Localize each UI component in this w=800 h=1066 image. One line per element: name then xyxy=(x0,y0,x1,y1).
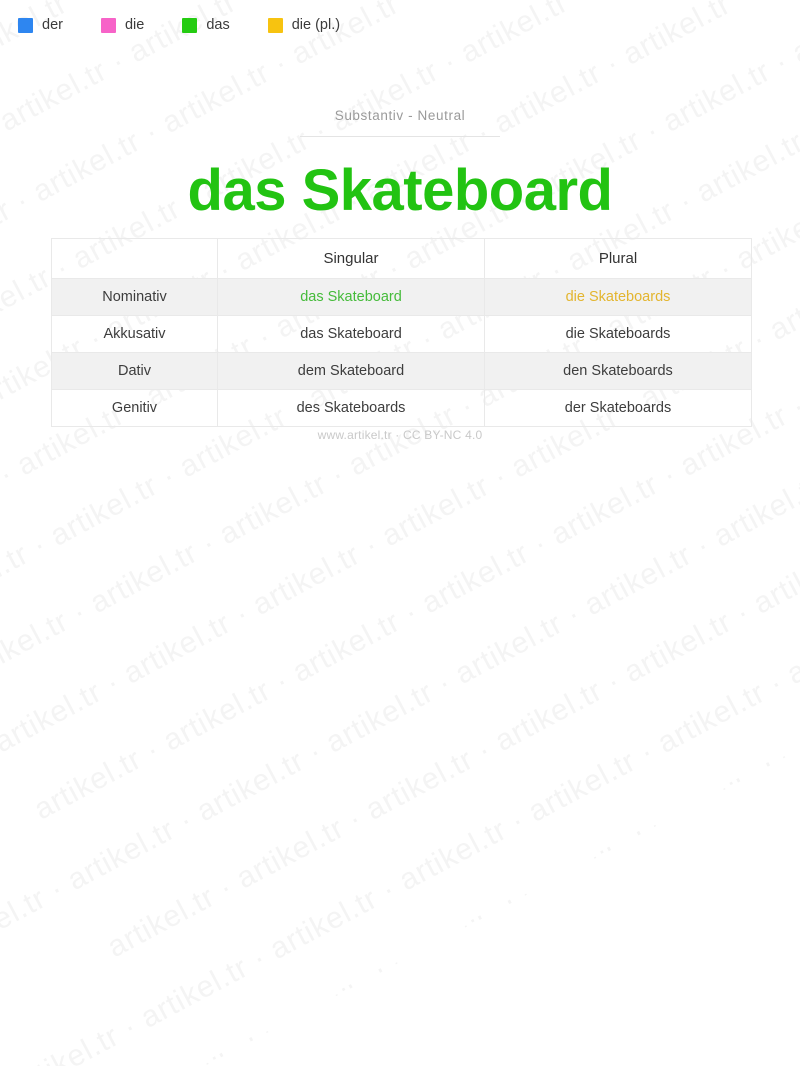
watermark-line: artikel.tr · artikel.tr · artikel.tr · a… xyxy=(32,443,800,1066)
column-header-singular: Singular xyxy=(218,239,485,279)
singular-form-akkusativ: das Skateboard xyxy=(218,316,485,353)
declension-table: Singular Plural Nominativ das Skateboard… xyxy=(51,238,752,427)
case-label-dativ: Dativ xyxy=(52,353,218,390)
plural-form-akkusativ: die Skateboards xyxy=(485,316,752,353)
article-gender-legend: der die das die (pl.) xyxy=(18,17,378,33)
color-swatch-pink-icon xyxy=(101,18,116,33)
singular-form-dativ: dem Skateboard xyxy=(218,353,485,390)
case-label-nominativ: Nominativ xyxy=(52,279,218,316)
card-header: Substantiv - Neutral xyxy=(0,108,800,137)
color-swatch-green-icon xyxy=(182,18,197,33)
legend-item-die: die xyxy=(101,17,144,33)
case-label-genitiv: Genitiv xyxy=(52,390,218,427)
plural-form-nominativ: die Skateboards xyxy=(485,279,752,316)
legend-item-die-plural: die (pl.) xyxy=(268,17,340,33)
legend-item-das: das xyxy=(182,17,229,33)
footer-attribution: www.artikel.tr · CC BY-NC 4.0 xyxy=(0,428,800,442)
header-divider xyxy=(300,136,500,137)
plural-form-dativ: den Skateboards xyxy=(485,353,752,390)
color-swatch-blue-icon xyxy=(18,18,33,33)
page-title: das Skateboard xyxy=(0,155,800,227)
color-swatch-yellow-icon xyxy=(268,18,283,33)
column-header-plural: Plural xyxy=(485,239,752,279)
singular-form-genitiv: des Skateboards xyxy=(218,390,485,427)
table-row: Genitiv des Skateboards der Skateboards xyxy=(52,390,752,427)
table-row: Dativ dem Skateboard den Skateboards xyxy=(52,353,752,390)
word-type-subtitle: Substantiv - Neutral xyxy=(0,108,800,136)
legend-label-das: das xyxy=(206,17,229,33)
table-row: Nominativ das Skateboard die Skateboards xyxy=(52,279,752,316)
case-label-akkusativ: Akkusativ xyxy=(52,316,218,353)
table-header-row: Singular Plural xyxy=(52,239,752,279)
singular-form-nominativ: das Skateboard xyxy=(218,279,485,316)
legend-label-die-plural: die (pl.) xyxy=(292,17,340,33)
table-row: Akkusativ das Skateboard die Skateboards xyxy=(52,316,752,353)
plural-form-genitiv: der Skateboards xyxy=(485,390,752,427)
legend-label-der: der xyxy=(42,17,63,33)
column-header-case xyxy=(52,239,218,279)
legend-label-die: die xyxy=(125,17,144,33)
legend-item-der: der xyxy=(18,17,63,33)
declension-card: der die das die (pl.) Substantiv - Neutr… xyxy=(0,0,800,533)
